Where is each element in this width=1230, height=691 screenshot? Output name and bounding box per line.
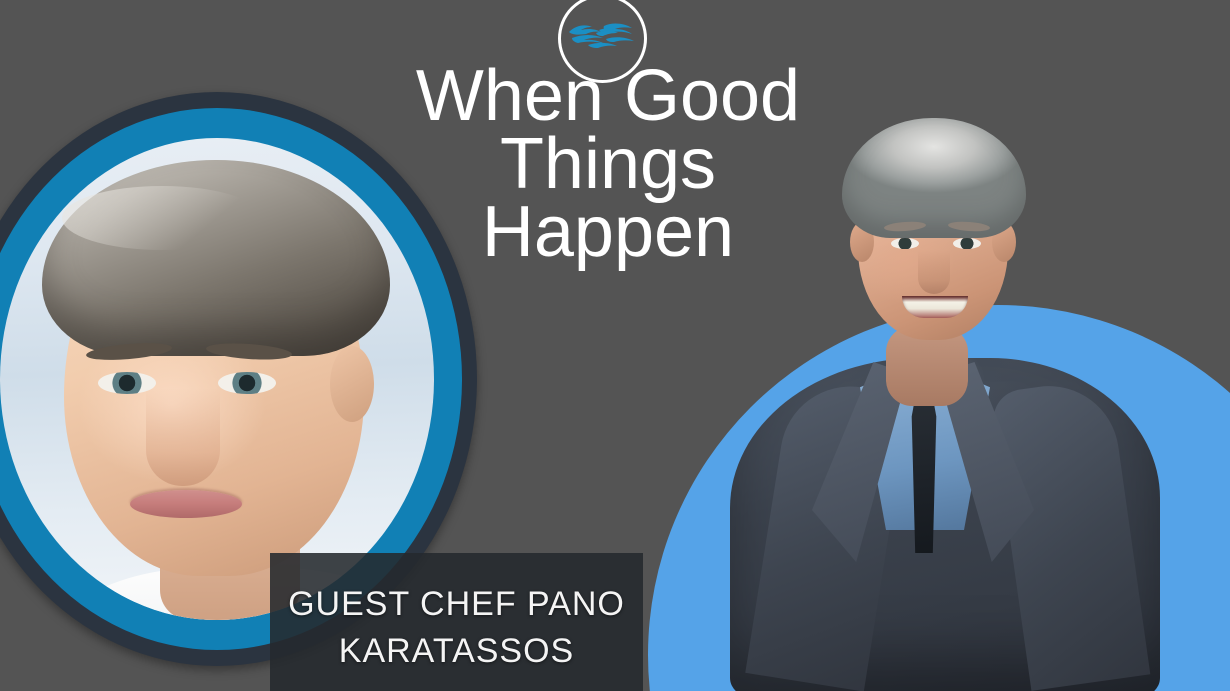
- title-line-3: Happen: [310, 198, 906, 266]
- caption-line-2: KARATASSOS: [270, 628, 643, 675]
- wave-icon: [566, 16, 639, 54]
- chef-nose: [146, 388, 220, 486]
- chef-eye-right: [218, 372, 276, 394]
- host-eye-right: [953, 238, 981, 249]
- title-line-1: When Good: [310, 62, 906, 130]
- chef-ear: [330, 346, 374, 422]
- host-nose: [918, 250, 950, 294]
- title-line-2: Things: [310, 130, 906, 198]
- chef-mouth: [130, 490, 242, 518]
- guest-caption-box: GUEST CHEF PANO KARATASSOS: [270, 553, 643, 691]
- guest-caption-text: GUEST CHEF PANO KARATASSOS: [270, 581, 643, 675]
- video-title-card: When Good Things Happen GUEST CHEF PANO …: [0, 0, 1230, 691]
- caption-line-1: GUEST CHEF PANO: [270, 581, 643, 628]
- page-title: When Good Things Happen: [310, 62, 906, 266]
